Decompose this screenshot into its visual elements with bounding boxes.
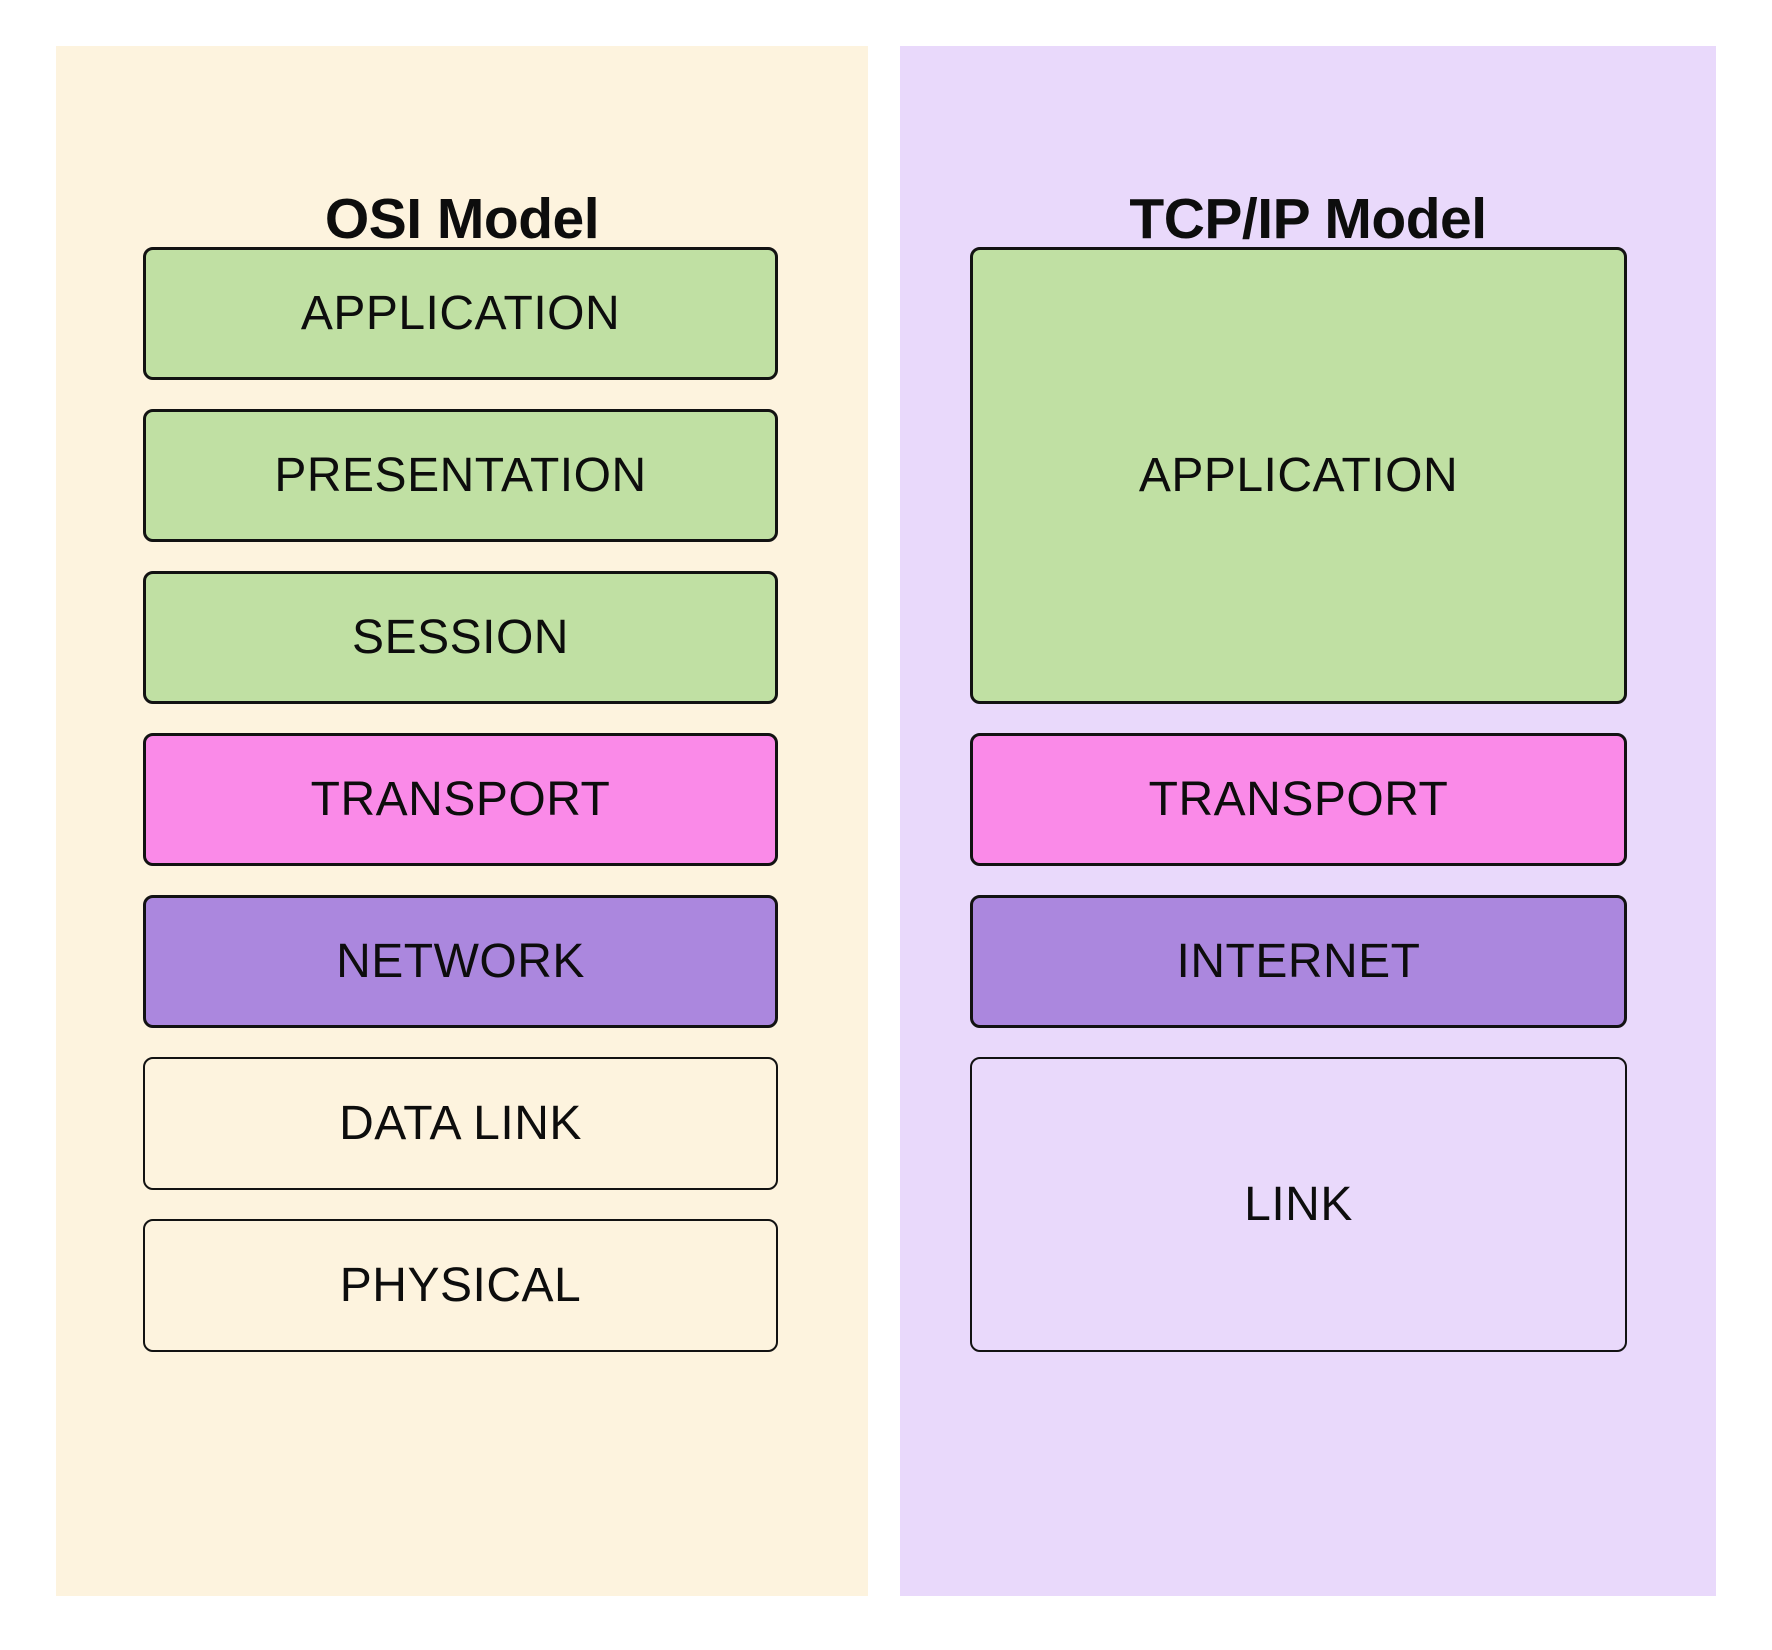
tcpip-layer-application-label: APPLICATION (1139, 452, 1458, 500)
osi-layer-physical-label: PHYSICAL (340, 1262, 581, 1310)
tcpip-model-title: TCP/IP Model (900, 186, 1716, 252)
osi-model-panel: OSI Model APPLICATION PRESENTATION SESSI… (56, 46, 868, 1596)
tcpip-layer-internet: INTERNET (970, 895, 1627, 1028)
osi-layer-presentation: PRESENTATION (143, 409, 778, 542)
osi-layer-session: SESSION (143, 571, 778, 704)
tcpip-model-panel: TCP/IP Model APPLICATION TRANSPORT INTER… (900, 46, 1716, 1596)
osi-layer-network: NETWORK (143, 895, 778, 1028)
osi-layer-application-label: APPLICATION (301, 290, 620, 338)
osi-layer-data-link: DATA LINK (143, 1057, 778, 1190)
tcpip-layer-link: LINK (970, 1057, 1627, 1352)
tcpip-layer-internet-label: INTERNET (1177, 938, 1421, 986)
osi-layer-transport-label: TRANSPORT (311, 776, 611, 824)
tcpip-layer-application: APPLICATION (970, 247, 1627, 704)
osi-layer-presentation-label: PRESENTATION (274, 452, 646, 500)
osi-layer-application: APPLICATION (143, 247, 778, 380)
osi-model-title: OSI Model (56, 186, 868, 252)
tcpip-layer-link-label: LINK (1244, 1181, 1353, 1229)
osi-layer-transport: TRANSPORT (143, 733, 778, 866)
osi-layer-physical: PHYSICAL (143, 1219, 778, 1352)
osi-layer-session-label: SESSION (352, 614, 569, 662)
tcpip-layer-transport: TRANSPORT (970, 733, 1627, 866)
tcpip-layer-transport-label: TRANSPORT (1149, 776, 1449, 824)
osi-layer-data-link-label: DATA LINK (339, 1100, 582, 1148)
osi-layer-network-label: NETWORK (336, 938, 585, 986)
diagram-canvas: OSI Model APPLICATION PRESENTATION SESSI… (0, 0, 1772, 1650)
